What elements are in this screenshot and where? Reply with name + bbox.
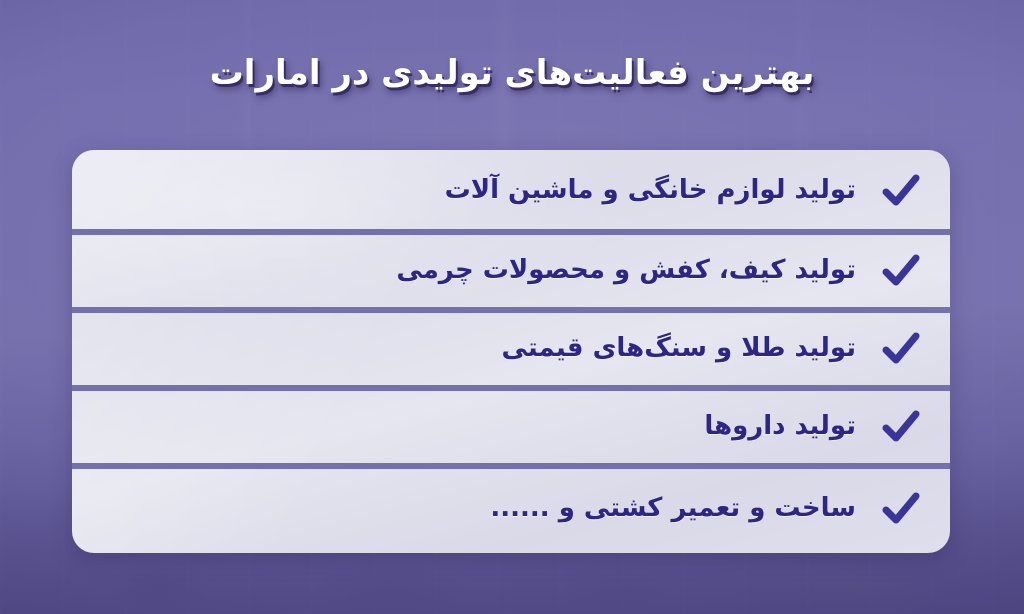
list-item: تولید طلا و سنگ‌های قیمتی [72,310,950,388]
list-item-label: ساخت و تعمیر کشتی و ...... [98,492,860,526]
list-item: تولید کیف، کفش و محصولات چرمی [72,232,950,310]
check-icon [878,486,924,532]
list-item: تولید داروها [72,388,950,466]
page-title: بهترین فعالیت‌های تولیدی در امارات [210,52,815,95]
check-icon [878,168,924,214]
list-item-label: تولید داروها [98,410,860,444]
check-icon [878,404,924,450]
check-icon [878,326,924,372]
activities-list-card: تولید لوازم خانگی و ماشین آلات تولید کیف… [72,150,950,553]
list-item-label: تولید کیف، کفش و محصولات چرمی [98,254,860,288]
list-item: ساخت و تعمیر کشتی و ...... [72,466,950,551]
list-item-label: تولید لوازم خانگی و ماشین آلات [98,174,860,208]
list-item-label: تولید طلا و سنگ‌های قیمتی [98,332,860,366]
list-item: تولید لوازم خانگی و ماشین آلات [72,150,950,232]
infographic-poster: بهترین فعالیت‌های تولیدی در امارات تولید… [0,0,1024,614]
check-icon [878,248,924,294]
title-container: بهترین فعالیت‌های تولیدی در امارات [0,52,1024,95]
